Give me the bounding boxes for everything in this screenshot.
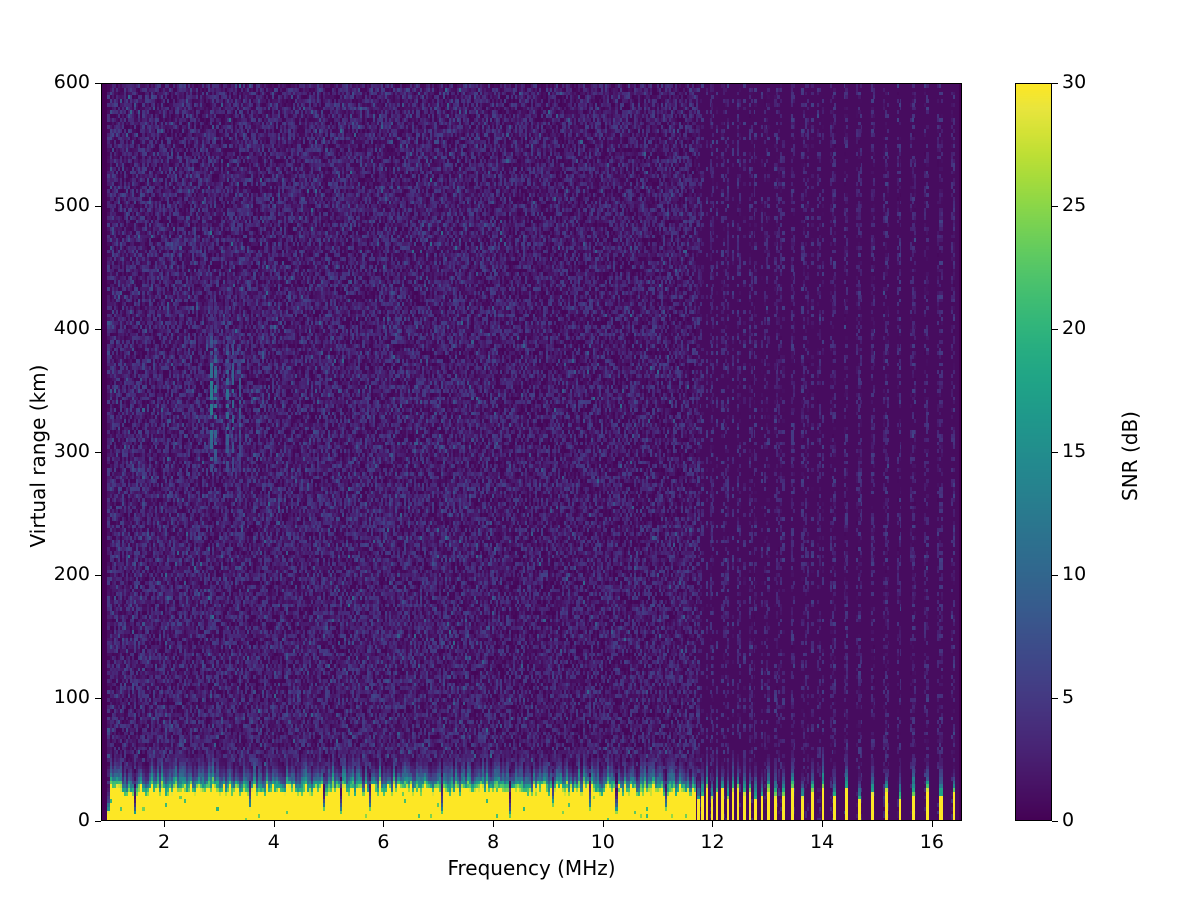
- y-axis-tick: [95, 821, 101, 822]
- x-axis-tick: [164, 821, 165, 827]
- x-axis-tick: [274, 821, 275, 827]
- y-axis-tick: [95, 329, 101, 330]
- x-axis-tick-label: 12: [672, 831, 752, 853]
- colorbar-tick: [1052, 329, 1058, 330]
- x-axis-tick-label: 8: [453, 831, 533, 853]
- colorbar-tick: [1052, 575, 1058, 576]
- colorbar-tick-label: 15: [1062, 442, 1086, 461]
- x-axis-tick-label: 14: [782, 831, 862, 853]
- colorbar-gradient: [1016, 84, 1052, 821]
- y-axis-tick: [95, 452, 101, 453]
- x-axis-tick-label: 10: [563, 831, 643, 853]
- ionogram-figure: IRF Kiruna Ionosonde KI167 2025-10-16 04…: [0, 0, 1200, 900]
- y-axis-tick: [95, 206, 101, 207]
- y-axis-label: Virtual range (km): [26, 87, 50, 825]
- x-axis-tick: [383, 821, 384, 827]
- x-axis-tick-label: 6: [343, 831, 423, 853]
- y-axis-tick: [95, 698, 101, 699]
- colorbar-tick-label: 25: [1062, 196, 1086, 215]
- x-axis-tick-label: 2: [124, 831, 204, 853]
- colorbar-tick-label: 0: [1062, 811, 1074, 830]
- x-axis-tick: [932, 821, 933, 827]
- x-axis-tick: [493, 821, 494, 827]
- x-axis-tick: [603, 821, 604, 827]
- y-axis-tick: [95, 83, 101, 84]
- x-axis-tick: [822, 821, 823, 827]
- colorbar: [1015, 83, 1052, 821]
- colorbar-tick: [1052, 206, 1058, 207]
- colorbar-tick: [1052, 452, 1058, 453]
- x-axis-label: Frequency (MHz): [101, 856, 962, 880]
- colorbar-tick-label: 5: [1062, 688, 1074, 707]
- colorbar-label: SNR (dB): [1118, 87, 1142, 825]
- ionogram-heatmap: [102, 84, 962, 821]
- x-axis-tick: [712, 821, 713, 827]
- colorbar-tick-label: 10: [1062, 565, 1086, 584]
- x-axis-tick-label: 4: [234, 831, 314, 853]
- colorbar-tick-label: 30: [1062, 73, 1086, 92]
- colorbar-tick-label: 20: [1062, 319, 1086, 338]
- y-axis-tick: [95, 575, 101, 576]
- colorbar-tick: [1052, 83, 1058, 84]
- ionogram-plot-area: [101, 83, 962, 821]
- colorbar-tick: [1052, 821, 1058, 822]
- x-axis-tick-label: 16: [892, 831, 972, 853]
- colorbar-tick: [1052, 698, 1058, 699]
